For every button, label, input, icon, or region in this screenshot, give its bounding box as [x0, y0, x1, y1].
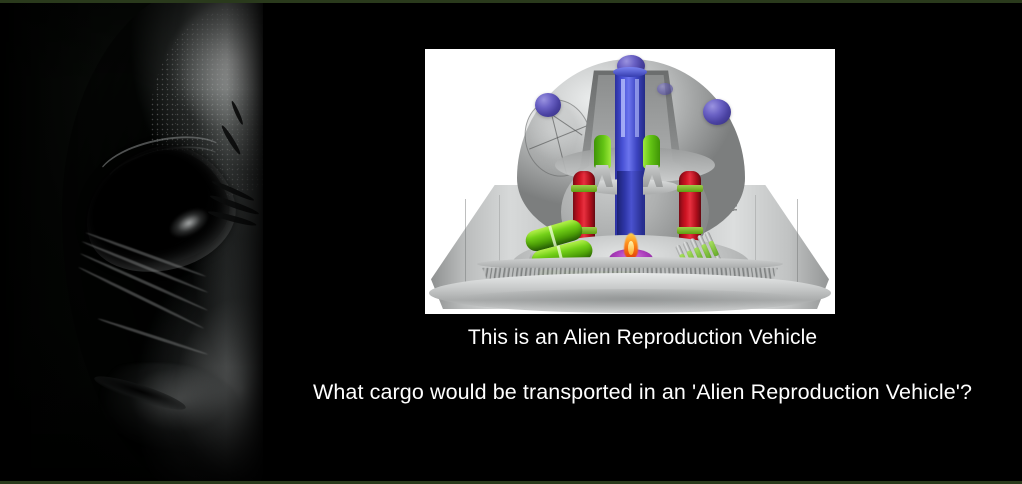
caption-spacer [263, 352, 1022, 379]
cargo-band [548, 225, 557, 246]
tank-clamp [571, 185, 597, 192]
hull-seam [465, 199, 466, 287]
reactor-flame-core [628, 241, 634, 255]
caption-line-1: This is an Alien Reproduction Vehicle [263, 325, 1022, 352]
column-cap [613, 67, 647, 77]
column-light-slit [621, 79, 625, 137]
hull-seam [797, 199, 798, 287]
caption-line-2: What cargo would be transported in an 'A… [263, 379, 1022, 407]
tank-clamp [677, 185, 703, 192]
saucer-rim-shadow [445, 289, 815, 313]
slide-canvas: This is an Alien Reproduction Vehicle Wh… [0, 0, 1022, 484]
crew-figure [641, 135, 663, 187]
purple-nodule [657, 83, 673, 95]
photo-vignette [0, 3, 263, 481]
arv-cutaway-figure [425, 49, 835, 314]
purple-nodule [703, 99, 731, 125]
column-light-slit [635, 79, 639, 137]
crew-torso [643, 135, 660, 169]
tank-clamp [677, 227, 703, 234]
purple-nodule [535, 93, 561, 117]
ufo-illustration [425, 49, 835, 314]
caption-block: This is an Alien Reproduction Vehicle Wh… [263, 325, 1022, 406]
alien-face-photo [0, 3, 263, 481]
crew-torso [594, 135, 611, 169]
